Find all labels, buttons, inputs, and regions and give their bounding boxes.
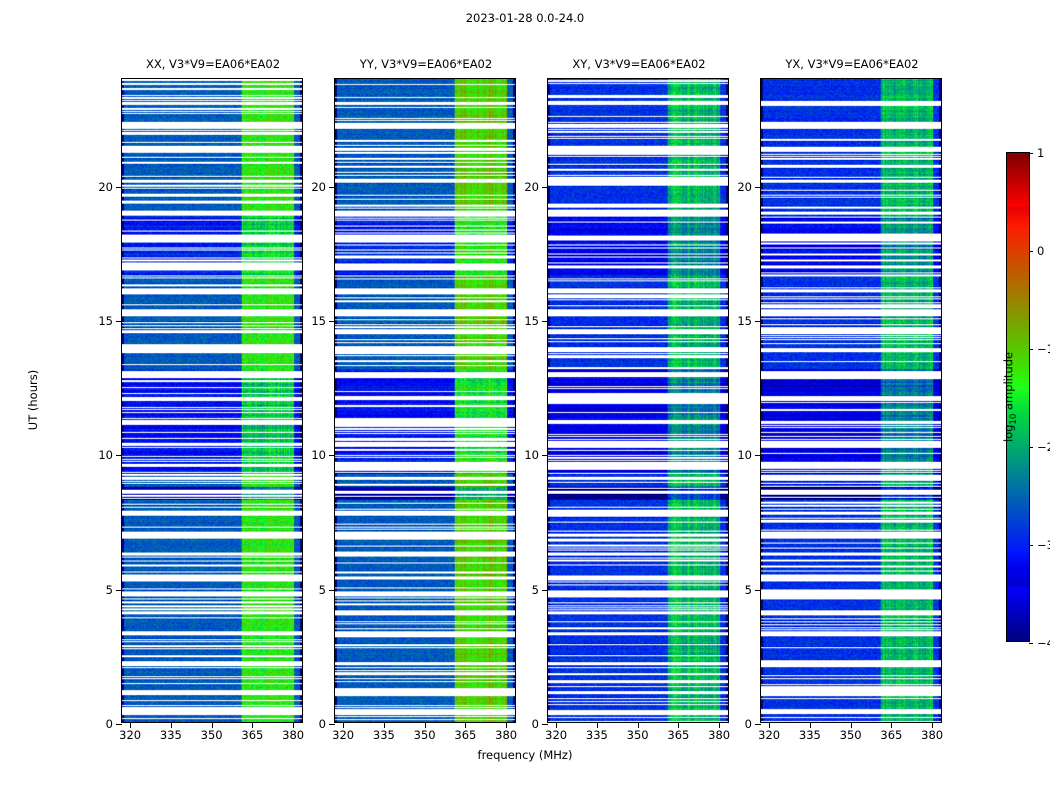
x-tick-label: 320 [758,728,780,742]
x-tick-label: 320 [545,728,567,742]
y-tick [116,187,122,188]
y-tick-label: 0 [106,717,113,731]
y-tick [755,321,761,322]
y-tick [116,590,122,591]
colorbar-tick-label: −2 [1037,440,1050,454]
x-tick-label: 335 [160,728,182,742]
y-tick [329,187,335,188]
colorbar-tick-label: −3 [1037,538,1050,552]
x-tick-label: 350 [627,728,649,742]
y-tick [755,724,761,725]
x-tick-label: 380 [708,728,730,742]
colorbar-tick-label: 0 [1037,244,1044,258]
y-tick-label: 15 [737,314,752,328]
panel-title-xy: XY, V3*V9=EA06*EA02 [536,57,742,71]
y-tick [542,321,548,322]
y-tick [542,455,548,456]
colorbar-tick [1029,153,1033,154]
colorbar-tick-label: −1 [1037,342,1050,356]
colorbar-label: log10 amplitude [1001,352,1018,442]
y-tick [329,321,335,322]
y-tick-label: 20 [737,180,752,194]
y-tick [755,187,761,188]
spectrogram-xx [122,79,302,722]
panel-xy: XY, V3*V9=EA06*EA02 05101520320335350365… [547,78,729,723]
colorbar-tick [1029,349,1033,350]
x-tick-label: 380 [495,728,517,742]
y-tick-label: 15 [524,314,539,328]
spectrogram-yy [335,79,515,722]
y-tick-label: 5 [745,583,752,597]
colorbar-tick [1029,643,1033,644]
colorbar-tick [1029,251,1033,252]
y-tick [755,455,761,456]
y-tick [116,455,122,456]
y-tick [329,590,335,591]
y-tick-label: 20 [311,180,326,194]
x-tick-label: 365 [880,728,902,742]
y-tick-label: 0 [745,717,752,731]
panel-title-yx: YX, V3*V9=EA06*EA02 [749,57,955,71]
colorbar-tick-label: −4 [1037,636,1050,650]
x-tick-label: 350 [414,728,436,742]
y-tick-label: 15 [98,314,113,328]
y-tick-label: 10 [524,448,539,462]
y-tick-label: 0 [532,717,539,731]
y-tick [116,321,122,322]
y-tick-label: 10 [737,448,752,462]
y-tick-label: 10 [98,448,113,462]
x-axis-label: frequency (MHz) [0,748,1050,762]
panel-title-yy: YY, V3*V9=EA06*EA02 [323,57,529,71]
x-tick-label: 335 [799,728,821,742]
y-tick [542,590,548,591]
x-tick-label: 380 [921,728,943,742]
y-tick [755,590,761,591]
y-tick-label: 15 [311,314,326,328]
y-tick [116,724,122,725]
x-tick-label: 365 [667,728,689,742]
y-tick-label: 5 [106,583,113,597]
y-tick [542,187,548,188]
colorbar-tick-label: 1 [1037,146,1044,160]
panel-yx: YX, V3*V9=EA06*EA02 05101520320335350365… [760,78,942,723]
x-tick-label: 335 [373,728,395,742]
figure-suptitle: 2023-01-28 0.0-24.0 [0,11,1050,25]
panel-title-xx: XX, V3*V9=EA06*EA02 [110,57,316,71]
x-tick-label: 365 [241,728,263,742]
panel-xx: XX, V3*V9=EA06*EA02 05101520320335350365… [121,78,303,723]
colorbar-tick [1029,447,1033,448]
y-tick-label: 0 [319,717,326,731]
spectrogram-yx [761,79,941,722]
y-tick [329,724,335,725]
y-tick [542,724,548,725]
colorbar-tick [1029,545,1033,546]
y-tick-label: 20 [98,180,113,194]
y-tick-label: 5 [532,583,539,597]
spectrogram-xy [548,79,728,722]
panel-yy: YY, V3*V9=EA06*EA02 05101520320335350365… [334,78,516,723]
y-tick [329,455,335,456]
x-tick-label: 350 [201,728,223,742]
y-tick-label: 10 [311,448,326,462]
y-axis-label: UT (hours) [26,370,40,430]
x-tick-label: 380 [282,728,304,742]
y-tick-label: 20 [524,180,539,194]
x-tick-label: 320 [332,728,354,742]
x-tick-label: 335 [586,728,608,742]
x-tick-label: 320 [119,728,141,742]
x-tick-label: 350 [840,728,862,742]
y-tick-label: 5 [319,583,326,597]
x-tick-label: 365 [454,728,476,742]
